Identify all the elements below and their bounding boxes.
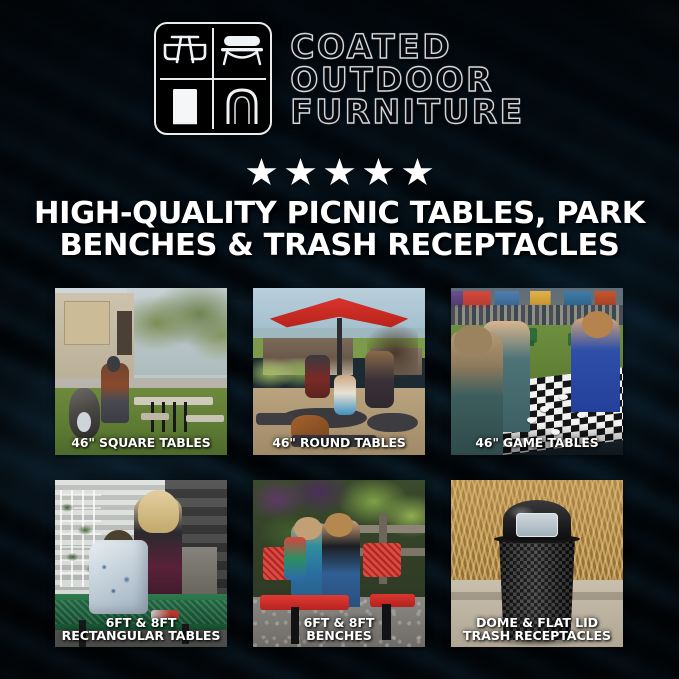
product-caption: DOME & FLAT LID TRASH RECEPTACLES bbox=[453, 616, 621, 643]
photo-bench-seat-right bbox=[370, 594, 415, 607]
photo-woman bbox=[365, 351, 394, 408]
brand-name-line-2: OUTDOOR bbox=[290, 64, 524, 96]
logo-icon-grid bbox=[154, 22, 272, 135]
photo-woman-head bbox=[454, 325, 492, 355]
bike-rack-arch-icon bbox=[213, 79, 270, 134]
product-tile-rectangular-tables[interactable]: 6FT & 8FT RECTANGULAR TABLES bbox=[55, 480, 227, 647]
photo-person-head bbox=[107, 356, 121, 371]
photo-woman-hair bbox=[138, 490, 179, 533]
photo-checker-piece bbox=[540, 406, 549, 412]
photo-round-table-far bbox=[367, 413, 419, 431]
photo-child bbox=[334, 375, 356, 415]
photo-dog-marking bbox=[77, 412, 91, 432]
product-caption: 46" GAME TABLES bbox=[453, 436, 621, 449]
product-photo bbox=[451, 288, 623, 455]
product-tile-game-tables[interactable]: 46" GAME TABLES bbox=[451, 288, 623, 455]
photo-bench-back-right bbox=[363, 543, 401, 576]
photo-window bbox=[117, 311, 132, 354]
photo-bench-far bbox=[141, 413, 169, 420]
headline-line-2: BENCHES & TRASH RECEPTACLES bbox=[24, 230, 655, 262]
product-caption: 46" SQUARE TABLES bbox=[57, 436, 225, 449]
photo-ac-unit bbox=[179, 547, 217, 597]
product-caption: 6FT & 8FT RECTANGULAR TABLES bbox=[57, 616, 225, 643]
promo-banner: COATED OUTDOOR FURNITURE HIGH-QUALITY PI… bbox=[0, 0, 679, 679]
picnic-table-icon bbox=[156, 24, 213, 79]
product-caption: 6FT & 8FT BENCHES bbox=[255, 616, 423, 643]
logo-grid-divider-horizontal bbox=[160, 78, 266, 80]
product-tile-round-tables[interactable]: 46" ROUND TABLES bbox=[253, 288, 425, 455]
trash-receptacle-icon bbox=[156, 79, 213, 134]
star-icon bbox=[247, 158, 277, 187]
star-icon bbox=[325, 158, 355, 187]
photo-checker-piece bbox=[577, 412, 586, 418]
photo-umbrella-pole bbox=[337, 318, 341, 381]
photo-trees bbox=[127, 288, 227, 375]
brand-logo: COATED OUTDOOR FURNITURE bbox=[0, 22, 679, 135]
photo-garage-door bbox=[64, 301, 110, 344]
star-rating bbox=[0, 158, 679, 187]
star-icon bbox=[403, 158, 433, 187]
product-photo bbox=[55, 288, 227, 455]
photo-backpack bbox=[284, 537, 306, 580]
park-bench-icon bbox=[213, 24, 270, 79]
product-photo bbox=[253, 288, 425, 455]
brand-name-line-3: FURNITURE bbox=[290, 96, 524, 128]
product-tile-square-tables[interactable]: 46" SQUARE TABLES bbox=[55, 288, 227, 455]
product-caption: 46" ROUND TABLES bbox=[255, 436, 423, 449]
photo-bag-pattern bbox=[93, 550, 145, 607]
star-icon bbox=[364, 158, 394, 187]
photo-round-bench-left bbox=[256, 413, 294, 425]
star-icon bbox=[286, 158, 316, 187]
product-tile-benches[interactable]: 6FT & 8FT BENCHES bbox=[253, 480, 425, 647]
brand-name-line-1: COATED bbox=[290, 31, 524, 63]
photo-person bbox=[101, 363, 129, 423]
headline-line-1: HIGH-QUALITY PICNIC TABLES, PARK bbox=[34, 196, 645, 231]
page-title: HIGH-QUALITY PICNIC TABLES, PARK BENCHES… bbox=[24, 198, 655, 263]
photo-boy-right-head bbox=[325, 513, 353, 536]
product-tile-trash-receptacles[interactable]: DOME & FLAT LID TRASH RECEPTACLES bbox=[451, 480, 623, 647]
photo-lid-opening bbox=[516, 513, 557, 536]
photo-man bbox=[305, 355, 331, 398]
photo-bench-seat-left bbox=[260, 595, 349, 610]
product-grid: 46" SQUARE TABLES bbox=[55, 288, 624, 647]
brand-wordmark: COATED OUTDOOR FURNITURE bbox=[290, 29, 524, 128]
photo-bench-near bbox=[186, 415, 224, 422]
photo-boy-head bbox=[582, 311, 613, 338]
